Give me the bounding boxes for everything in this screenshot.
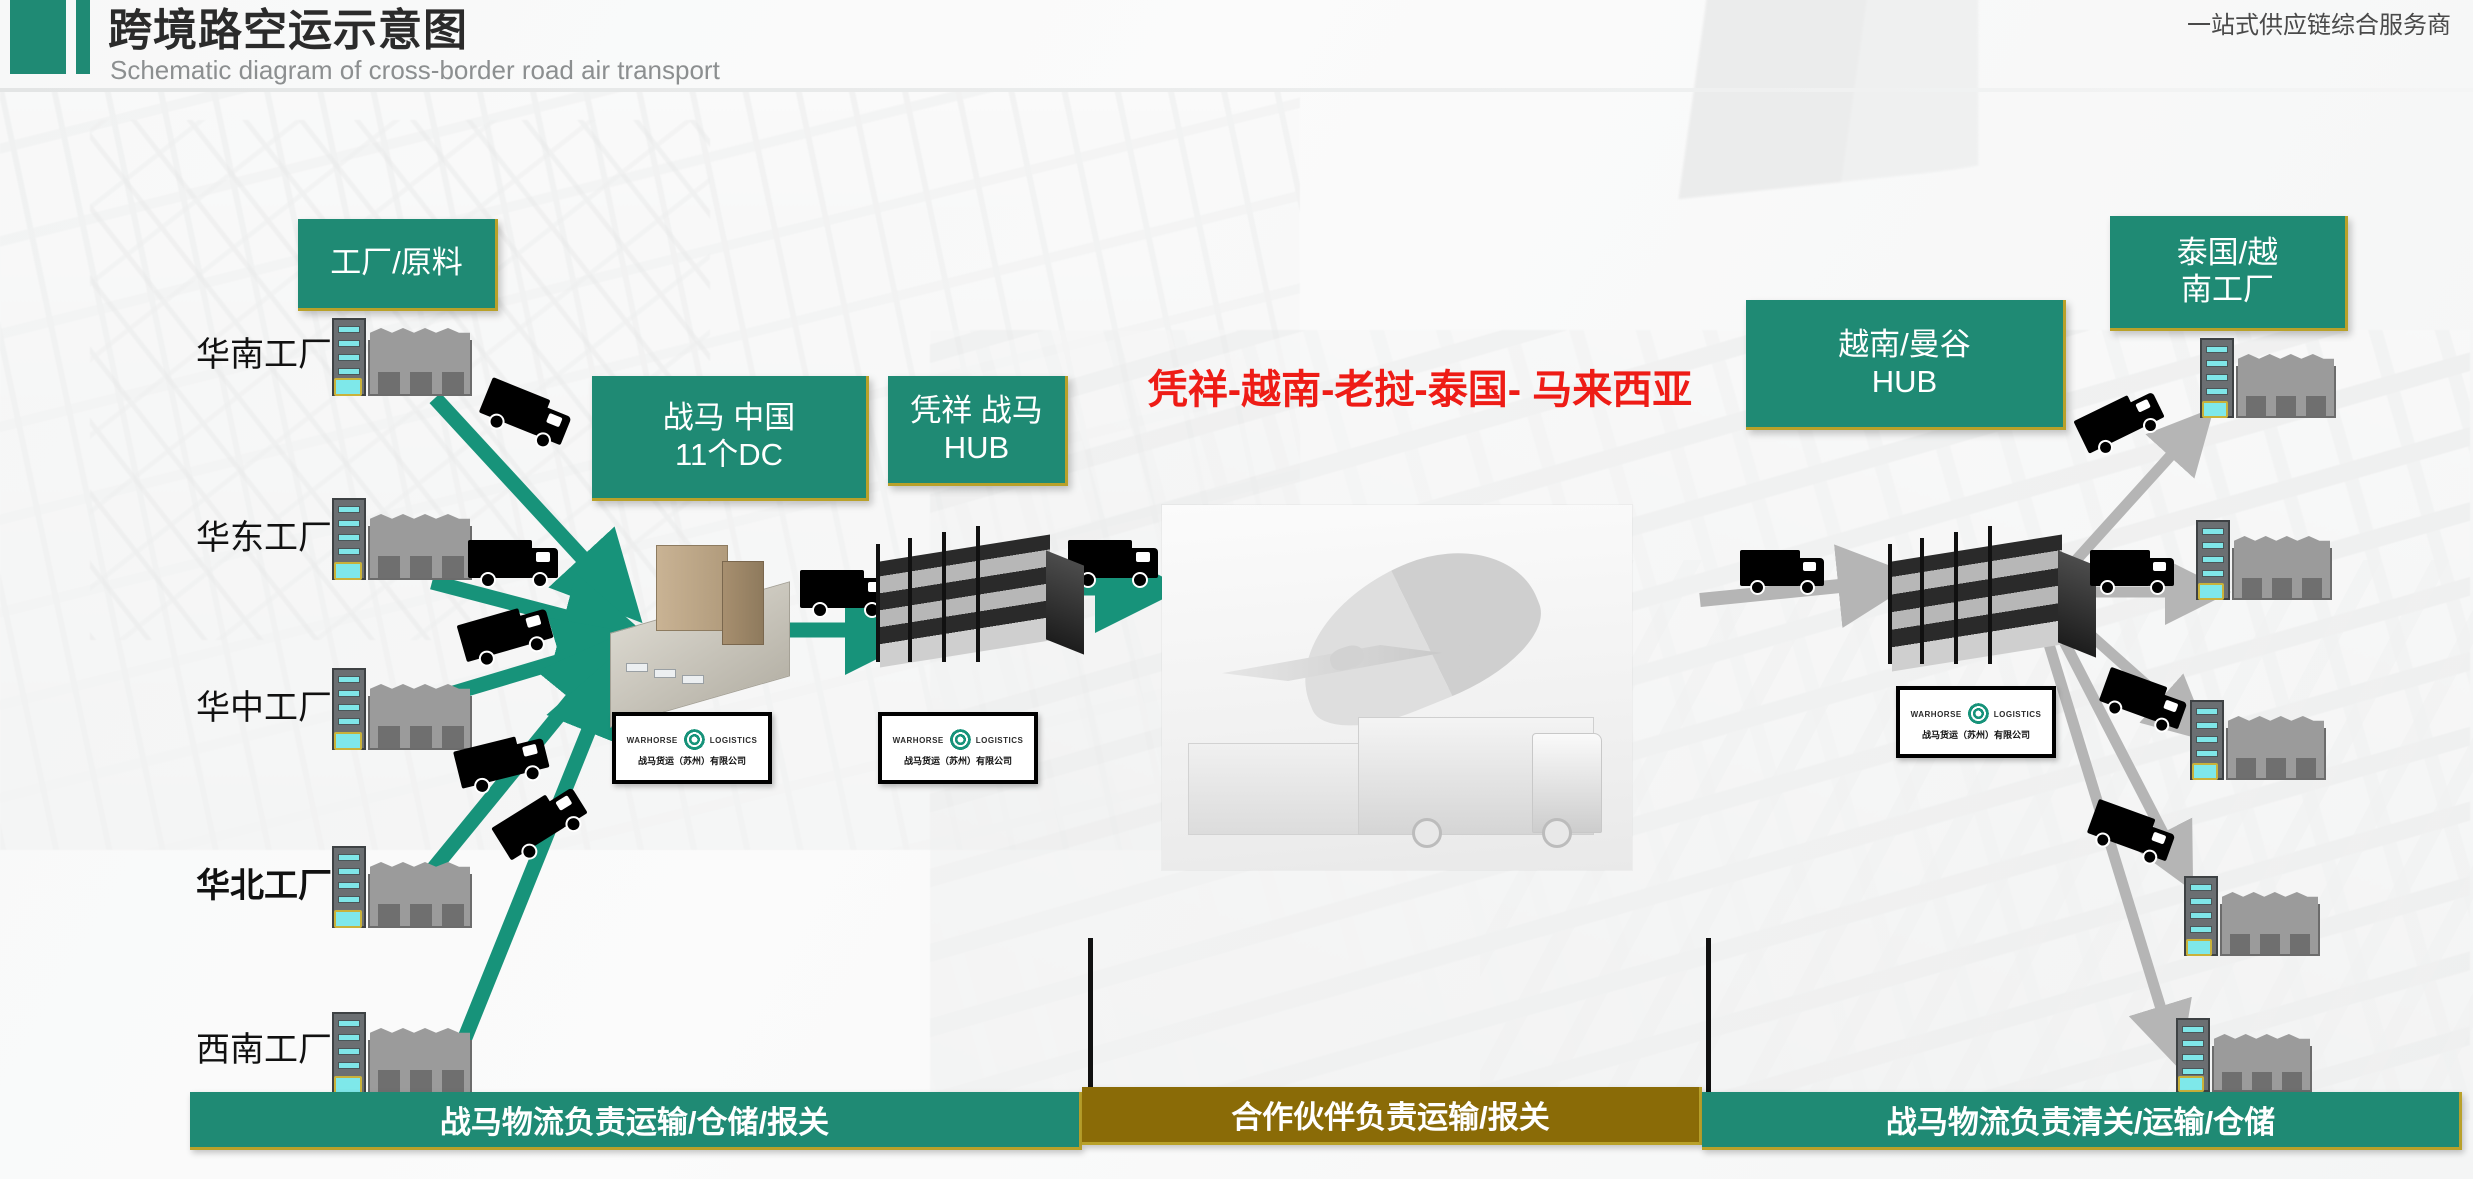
vietnam-hub-line1: 越南/曼谷 [1830,327,1979,364]
logo-signboard-0: WARHORSE LOGISTICS 战马货运（苏州）有限公司 [612,712,772,784]
route-line1: 凭祥-越南-老挝-泰国- [1148,368,1521,412]
china-dc-line1: 战马 中国 [655,400,804,437]
label-box-vietnam-bangkok-hub[interactable]: 越南/曼谷 HUB [1746,300,2066,430]
bottom-ribbon-2[interactable]: 战马物流负责清关/运输/仓储 [1702,1092,2462,1150]
label-box-factory-material[interactable]: 工厂/原料 [298,219,498,311]
signboard-en-right-2: LOGISTICS [1994,710,2042,719]
air-cargo-photo [1162,505,1632,870]
signboard-en-right-0: LOGISTICS [710,736,758,745]
origin-factory-label-1: 华东工厂 [196,510,332,559]
bottom-ribbon-0[interactable]: 战马物流负责运输/仓储/报关 [190,1092,1082,1150]
label-box-pingxiang-hub[interactable]: 凭祥 战马 HUB [888,376,1068,486]
factory-icon-origin-4 [332,1012,472,1094]
factory-icon-origin-1 [332,498,472,580]
slide-canvas: 跨境路空运示意图 Schematic diagram of cross-bord… [0,0,2473,1179]
origin-factory-label-3: 华北工厂 [196,858,332,907]
bottom-ribbon-1-text: 合作伙伴负责运输/报关 [1231,1092,1550,1137]
factory-icon-origin-0 [332,318,472,396]
truck-icon-left-0 [474,377,577,459]
header-tagline: 一站式供应链综合服务商 [2187,5,2451,40]
warhorse-logo-icon-2 [1967,703,1989,725]
factory-icon-destination-4 [2176,1018,2312,1092]
label-box-factory-material-text: 工厂/原料 [322,245,471,282]
signboard-en-left-0: WARHORSE [627,736,678,745]
origin-factory-label-0: 华南工厂 [196,327,332,376]
segment-divider-left [1088,938,1093,1096]
label-box-thai-vietnam-factory[interactable]: 泰国/越 南工厂 [2110,216,2348,331]
segment-divider-right [1706,938,1711,1096]
factory-icon-origin-2 [332,668,472,750]
factory-icon-destination-2 [2190,700,2326,780]
warhorse-logo-icon-0 [683,729,705,751]
header-accent-bar-wide [10,0,66,74]
pingxiang-hub-line1: 凭祥 战马 [902,393,1051,430]
bottom-ribbon-1[interactable]: 合作伙伴负责运输/报关 [1082,1087,1702,1145]
logo-signboard-2: WARHORSE LOGISTICS 战马货运（苏州）有限公司 [1896,686,2056,758]
truck-icon-right-1 [2090,550,2176,600]
bottom-ribbon-2-text: 战马物流负责清关/运输/仓储 [1886,1097,2275,1142]
watermark-airplane-top [1370,0,2150,229]
signboard-en-left-2: WARHORSE [1911,710,1962,719]
pingxiang-hub-building-icon [880,548,1050,654]
thai-factory-line2: 南工厂 [2169,272,2287,309]
signboard-cn-0: 战马货运（苏州）有限公司 [638,754,746,767]
vietnam-hub-building-icon [1892,548,2062,658]
factory-icon-destination-1 [2196,520,2332,600]
truck-icon-left-2 [457,600,560,675]
truck-icon-right-2 [2094,667,2192,743]
warhorse-logo-icon-1 [949,729,971,751]
factory-icon-destination-0 [2200,338,2336,418]
truck-icon-right-inbound [1740,550,1826,600]
cross-border-route-text: 凭祥-越南-老挝-泰国- 马来西亚 [1140,365,1700,416]
truck-icon-right-3 [2082,799,2180,875]
china-dc-line2: 11个DC [655,437,804,474]
logo-signboard-1: WARHORSE LOGISTICS 战马货运（苏州）有限公司 [878,712,1038,784]
vietnam-hub-line2: HUB [1830,364,1979,401]
china-dc-building-icon [610,545,790,705]
truck-icon-left-4 [491,780,597,873]
label-box-china-dc[interactable]: 战马 中国 11个DC [592,376,869,501]
factory-icon-origin-3 [332,846,472,928]
pingxiang-hub-line2: HUB [902,430,1051,467]
signboard-cn-2: 战马货运（苏州）有限公司 [1922,728,2030,741]
header-divider-rule [0,88,2473,92]
page-title: 跨境路空运示意图 [108,0,468,58]
route-line2: 马来西亚 [1532,368,1692,412]
page-subtitle: Schematic diagram of cross-border road a… [110,55,720,86]
signboard-cn-1: 战马货运（苏州）有限公司 [904,754,1012,767]
thai-factory-line1: 泰国/越 [2169,235,2287,272]
signboard-en-left-1: WARHORSE [893,736,944,745]
truck-icon-right-0 [2073,384,2172,467]
truck-icon-left-1 [468,540,560,592]
origin-factory-label-2: 华中工厂 [196,680,332,729]
factory-icon-destination-3 [2184,876,2320,956]
signboard-en-right-1: LOGISTICS [976,736,1024,745]
header-accent-bar-thin [76,0,90,74]
origin-factory-label-4: 西南工厂 [196,1022,332,1071]
bottom-ribbon-0-text: 战马物流负责运输/仓储/报关 [440,1097,829,1142]
